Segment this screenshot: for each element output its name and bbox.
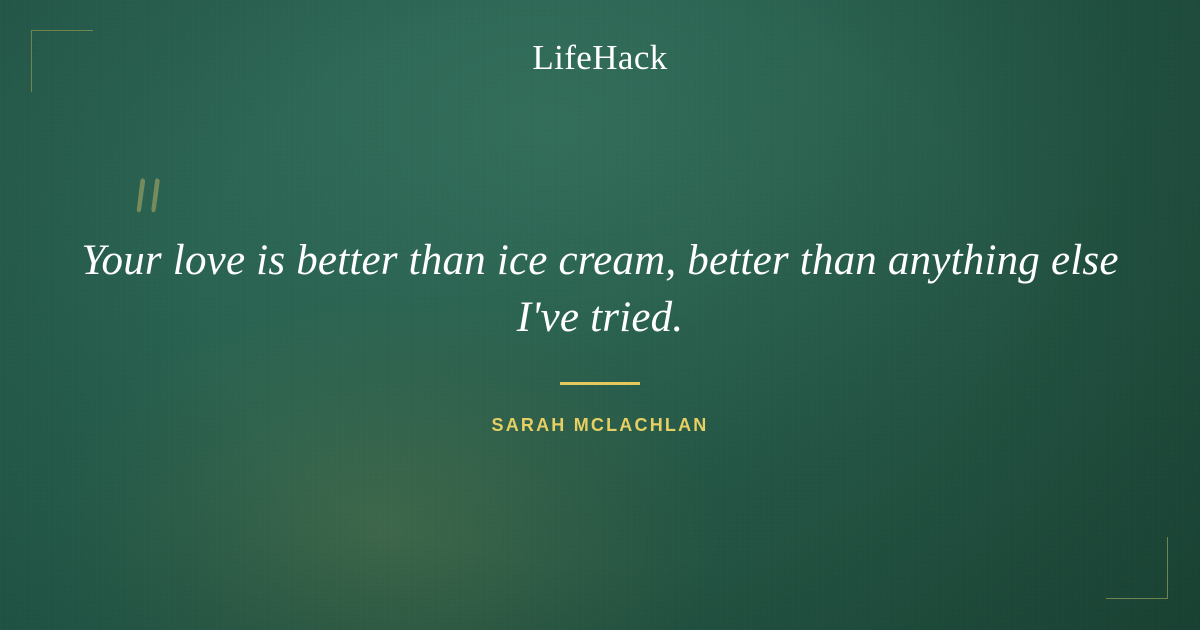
quote-author: SARAH MCLACHLAN — [0, 413, 1200, 437]
quote-card: LifeHack Your love is better than ice cr… — [0, 0, 1200, 630]
quote-text: Your love is better than ice cream, bett… — [80, 232, 1120, 346]
divider-container — [0, 382, 1200, 385]
corner-bracket-bottom-right-icon — [1106, 537, 1168, 599]
open-quote-mark-icon — [128, 146, 188, 226]
gold-divider — [560, 382, 640, 385]
brand-logo: LifeHack — [0, 40, 1200, 75]
